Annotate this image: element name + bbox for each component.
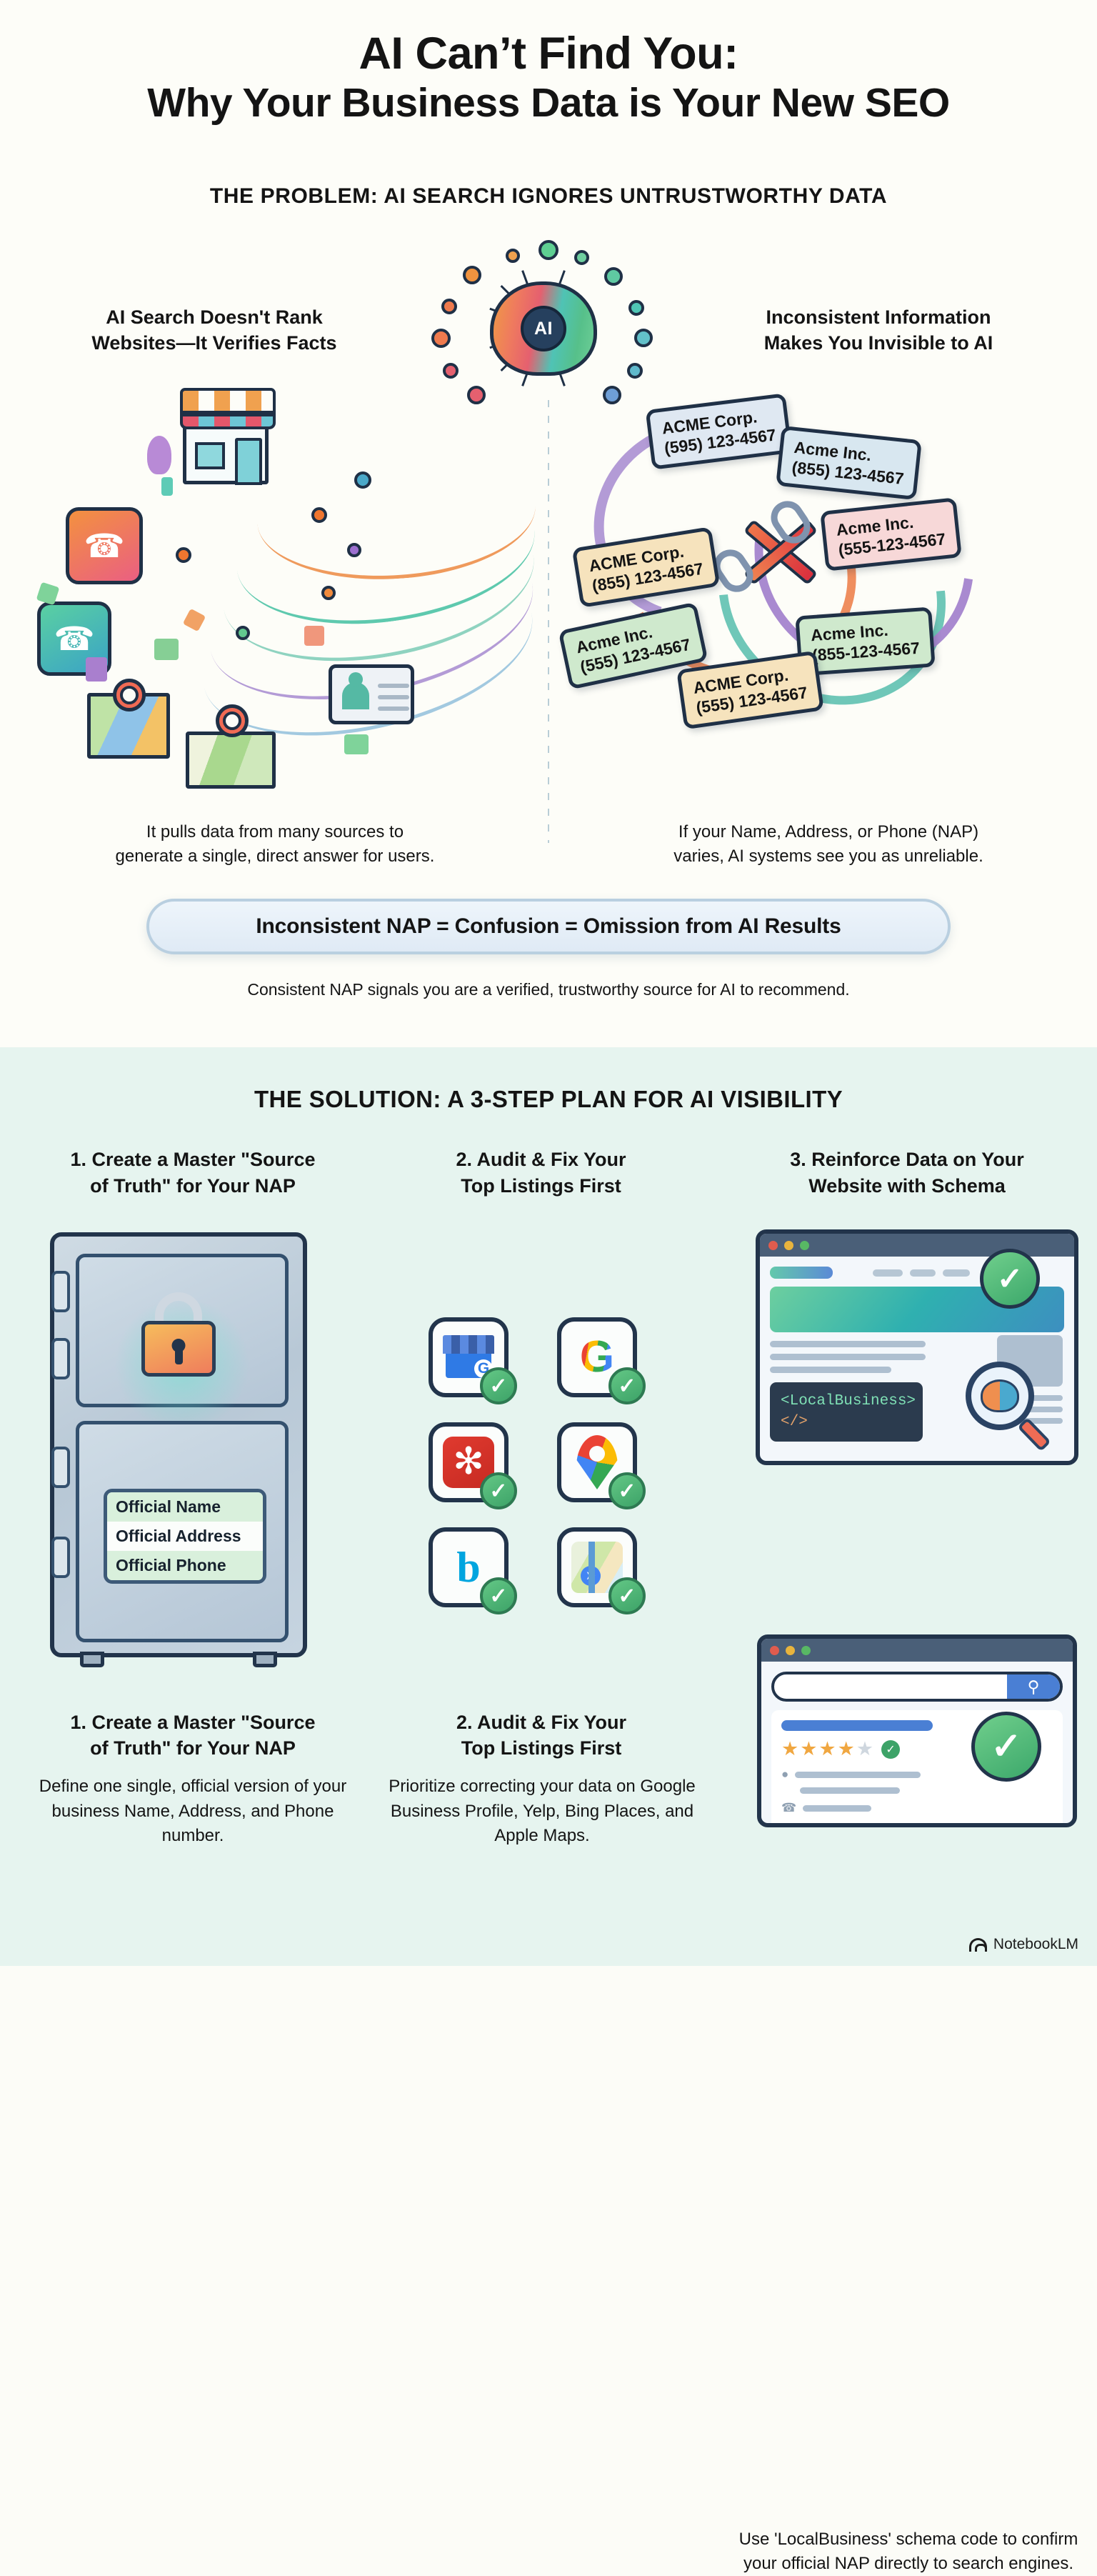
official-phone-row: Official Phone	[107, 1551, 263, 1580]
safe-lower-panel: Official Name Official Address Official …	[76, 1421, 289, 1642]
confetti	[147, 436, 171, 474]
left-column-heading: AI Search Doesn't Rank Websites—It Verif…	[43, 304, 386, 356]
step-1-title-line-1: 1. Create a Master "Source	[25, 1147, 361, 1173]
banner-subtext: Consistent NAP signals you are a verifie…	[0, 980, 1097, 999]
key-takeaway-banner: Inconsistent NAP = Confusion = Omission …	[146, 899, 951, 954]
brain-node	[463, 266, 481, 284]
broken-link-scissors-icon	[736, 507, 828, 600]
step-1-footer-title: 1. Create a Master "Source of Truth" for…	[25, 1709, 361, 1761]
right-caption-line-1: If your Name, Address, or Phone (NAP)	[586, 820, 1071, 844]
solution-section: THE SOLUTION: A 3-STEP PLAN FOR AI VISIB…	[0, 1047, 1097, 1966]
step-1-body: Define one single, official version of y…	[32, 1774, 354, 1849]
right-caption: If your Name, Address, or Phone (NAP) va…	[586, 820, 1071, 869]
listing-tile-bing[interactable]: b ✓	[429, 1527, 509, 1607]
listing-tile-apple-maps[interactable]: ➤ ✓	[557, 1527, 637, 1607]
id-line	[378, 695, 409, 699]
avatar	[342, 682, 369, 709]
verified-check-icon: ✓	[480, 1367, 517, 1404]
rating-stars-icon: ★★★★★	[781, 1738, 875, 1760]
step-3-title: 3. Reinforce Data on Your Website with S…	[728, 1147, 1086, 1199]
storefront-icon	[183, 406, 269, 484]
inconsistent-nap-illustration: ACME Corp. (595) 123-4567 Acme Inc. (855…	[571, 371, 1097, 814]
confetti	[344, 734, 369, 754]
notebooklm-branding: NotebookLM	[969, 1936, 1078, 1953]
logo-placeholder	[770, 1267, 833, 1279]
confetti	[154, 639, 179, 660]
brain-node	[634, 329, 653, 347]
location-pin-icon: ●	[781, 1767, 788, 1782]
step-1-footer-line-2: of Truth" for Your NAP	[25, 1735, 361, 1761]
step-3-title-line-1: 3. Reinforce Data on Your	[728, 1147, 1086, 1173]
listing-tile-google-business-profile[interactable]: G ✓	[429, 1317, 509, 1397]
phone-icon: ☎	[781, 1801, 796, 1815]
phone-line-placeholder	[803, 1827, 887, 1828]
id-line	[378, 684, 409, 688]
minimize-icon[interactable]	[784, 1241, 793, 1250]
left-heading-line-1: AI Search Doesn't Rank	[43, 304, 386, 330]
left-caption: It pulls data from many sources to gener…	[39, 820, 511, 869]
safe-hinge	[51, 1338, 70, 1379]
left-caption-line-2: generate a single, direct answer for use…	[39, 844, 511, 869]
problem-heading: THE PROBLEM: AI SEARCH IGNORES UNTRUSTWO…	[0, 184, 1097, 209]
phone-line-placeholder	[803, 1805, 871, 1812]
step-3-title-line-2: Website with Schema	[728, 1173, 1086, 1199]
maximize-icon[interactable]	[800, 1241, 809, 1250]
bing-icon: b	[456, 1543, 480, 1592]
confetti	[183, 609, 206, 631]
awning-bottom	[180, 414, 276, 429]
data-node	[354, 471, 371, 489]
store-door	[235, 438, 262, 485]
brain-icon	[981, 1379, 1019, 1412]
listing-tile-google[interactable]: G ✓	[557, 1317, 637, 1397]
step-2-title-line-1: 2. Audit & Fix Your	[379, 1147, 703, 1173]
id-line	[378, 707, 409, 711]
official-name-row: Official Name	[107, 1492, 263, 1522]
padlock-icon	[141, 1321, 216, 1377]
step-2-title-line-2: Top Listings First	[379, 1173, 703, 1199]
maximize-icon[interactable]	[801, 1646, 811, 1655]
schema-code-line-2: </>	[781, 1412, 912, 1433]
phone-glyph: ☎	[84, 529, 124, 562]
solution-heading: THE SOLUTION: A 3-STEP PLAN FOR AI VISIB…	[0, 1086, 1097, 1113]
google-icon: G	[580, 1335, 614, 1379]
notebooklm-label: NotebookLM	[993, 1936, 1078, 1953]
title-line-1: AI Can’t Find You:	[0, 29, 1097, 79]
phone-glyph: ☎	[54, 622, 94, 655]
text-line-placeholder	[770, 1367, 891, 1373]
browser-title-bar	[761, 1639, 1073, 1662]
close-icon[interactable]	[768, 1241, 778, 1250]
data-node	[347, 543, 361, 557]
right-column-heading: Inconsistent Information Makes You Invis…	[700, 304, 1057, 356]
left-heading-line-2: Websites—It Verifies Facts	[43, 330, 386, 356]
schema-code-line-1: <LocalBusiness>	[781, 1392, 912, 1412]
nav-placeholder	[910, 1269, 936, 1277]
result-title-placeholder	[781, 1720, 933, 1731]
confetti	[161, 477, 173, 496]
verified-check-icon: ✓	[881, 1740, 900, 1759]
data-node	[321, 586, 336, 600]
business-listing-card-icon	[329, 664, 414, 724]
step-1-title: 1. Create a Master "Source of Truth" for…	[25, 1147, 361, 1199]
data-node	[176, 547, 191, 563]
browser-title-bar	[760, 1234, 1074, 1257]
address-line-placeholder	[800, 1787, 900, 1794]
search-input[interactable]: ⚲	[771, 1672, 1063, 1702]
page-title: AI Can’t Find You: Why Your Business Dat…	[0, 29, 1097, 127]
safe-hinge	[51, 1271, 70, 1312]
close-icon[interactable]	[770, 1646, 779, 1655]
verified-check-icon: ✓	[608, 1367, 646, 1404]
ai-label: AI	[521, 306, 566, 351]
text-line-placeholder	[770, 1354, 926, 1360]
brain-node	[604, 267, 623, 286]
verified-badge-icon: ✓	[980, 1249, 1040, 1309]
step-2-body: Prioritize correcting your data on Googl…	[383, 1774, 701, 1849]
source-of-truth-safe: Official Name Official Address Official …	[50, 1232, 307, 1657]
listing-tile-yelp[interactable]: ✓	[429, 1422, 509, 1502]
minimize-icon[interactable]	[786, 1646, 795, 1655]
official-nap-list: Official Name Official Address Official …	[104, 1489, 266, 1584]
title-line-2: Why Your Business Data is Your New SEO	[0, 79, 1097, 127]
safe-leg	[80, 1652, 104, 1667]
verified-check-icon: ✓	[480, 1472, 517, 1509]
gbp-roof	[443, 1335, 494, 1354]
awning-top	[180, 388, 276, 414]
verified-badge-icon: ✓	[971, 1712, 1041, 1782]
step-2-footer-line-1: 2. Audit & Fix Your	[377, 1709, 706, 1735]
step-3-body: Use 'LocalBusiness' schema code to confi…	[730, 2527, 1087, 2576]
step-2-footer-title: 2. Audit & Fix Your Top Listings First	[377, 1709, 706, 1761]
verified-check-icon: ✓	[480, 1577, 517, 1614]
store-window	[195, 442, 225, 469]
problem-section: AI Can’t Find You: Why Your Business Dat…	[0, 0, 1097, 1047]
step-1-footer-line-1: 1. Create a Master "Source	[25, 1709, 361, 1735]
brain-node	[431, 329, 451, 348]
data-node	[236, 626, 250, 640]
navigation-arrow-icon: ➤	[581, 1566, 601, 1586]
left-caption-line-1: It pulls data from many sources to	[39, 820, 511, 844]
step-2-title: 2. Audit & Fix Your Top Listings First	[379, 1147, 703, 1199]
schema-code-block: <LocalBusiness> </>	[770, 1382, 923, 1442]
text-line-placeholder	[770, 1341, 926, 1347]
brain-node	[441, 299, 457, 314]
brain-node	[539, 240, 558, 260]
official-address-row: Official Address	[107, 1522, 263, 1551]
safe-hinge	[51, 1537, 70, 1578]
verified-check-icon: ✓	[608, 1577, 646, 1614]
ai-inspection-magnifier-icon	[966, 1362, 1034, 1430]
right-caption-line-2: varies, AI systems see you as unreliable…	[586, 844, 1071, 869]
right-heading-line-2: Makes You Invisible to AI	[700, 330, 1057, 356]
step-2-footer-line-2: Top Listings First	[377, 1735, 706, 1761]
keyhole	[172, 1339, 186, 1352]
safe-hinge	[51, 1447, 70, 1488]
nav-placeholder	[873, 1269, 903, 1277]
data-node	[311, 507, 327, 523]
map-icon	[186, 732, 276, 789]
data-sources-illustration: ☎ ☎	[21, 371, 550, 800]
brain-node	[506, 249, 520, 263]
phone-icon: ☎	[781, 1822, 796, 1827]
confetti	[304, 626, 324, 646]
brain-node	[574, 250, 589, 265]
safe-leg	[253, 1652, 277, 1667]
search-icon[interactable]: ⚲	[1007, 1674, 1060, 1699]
verified-check-icon: ✓	[608, 1472, 646, 1509]
confetti	[86, 657, 107, 682]
step-1-title-line-2: of Truth" for Your NAP	[25, 1173, 361, 1199]
address-line-placeholder	[795, 1772, 921, 1778]
right-heading-line-1: Inconsistent Information	[700, 304, 1057, 330]
nav-placeholder	[943, 1269, 970, 1277]
listing-tile-google-maps[interactable]: ✓	[557, 1422, 637, 1502]
phone-app-icon: ☎	[66, 507, 143, 584]
brain-node	[628, 300, 644, 316]
notebooklm-logo-icon	[969, 1938, 987, 1952]
